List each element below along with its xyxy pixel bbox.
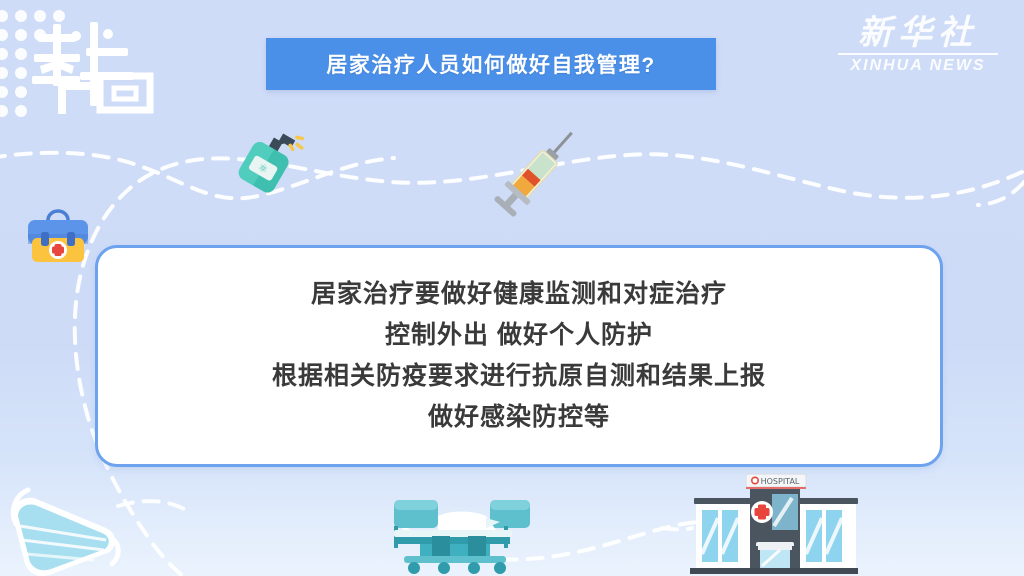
ke-hua-logo xyxy=(28,14,158,114)
content-line-1: 居家治疗要做好健康监测和对症治疗 xyxy=(311,274,727,315)
page-title: 居家治疗人员如何做好自我管理? xyxy=(326,49,655,79)
spray-bottle-icon: ⚛ xyxy=(232,118,306,202)
hospital-bed-icon xyxy=(380,492,530,576)
watermark-chinese: 新华社 xyxy=(834,14,1002,52)
content-line-3: 根据相关防疫要求进行抗原自测和结果上报 xyxy=(272,356,766,397)
infographic-canvas: 居家治疗人员如何做好自我管理? 新华社 XINHUA NEWS ⚛ xyxy=(0,0,1024,576)
watermark-english: XINHUA NEWS xyxy=(834,57,1002,75)
xinhua-watermark: 新华社 XINHUA NEWS xyxy=(834,14,1002,78)
syringe-icon xyxy=(486,118,590,224)
face-mask-icon xyxy=(0,478,126,576)
content-line-4: 做好感染防控等 xyxy=(428,397,610,438)
watermark-rule xyxy=(838,53,998,55)
content-card: 居家治疗要做好健康监测和对症治疗 控制外出 做好个人防护 根据相关防疫要求进行抗… xyxy=(95,245,943,467)
hospital-building-icon: HOSPITAL xyxy=(688,470,860,576)
hospital-sign-text: HOSPITAL xyxy=(761,477,800,486)
title-banner: 居家治疗人员如何做好自我管理? xyxy=(266,38,716,90)
medical-bag-icon xyxy=(22,200,94,272)
content-line-2: 控制外出 做好个人防护 xyxy=(385,315,653,356)
